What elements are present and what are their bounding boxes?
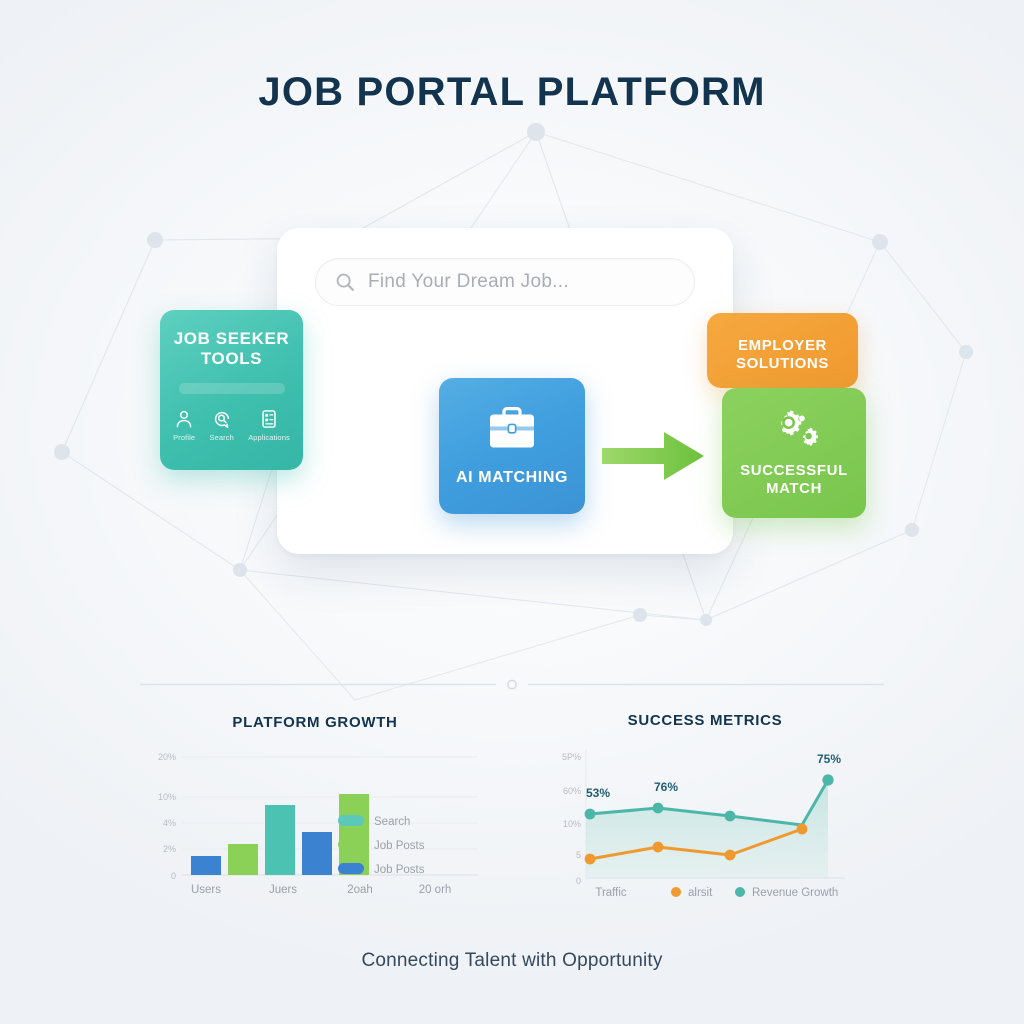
poster-canvas: JOB PORTAL PLATFORM Find Your Dream Job.…	[0, 0, 1024, 1024]
card-title: AI MATCHING	[456, 469, 568, 488]
chart-legend: Search Job Posts Job Posts	[338, 815, 425, 876]
svg-text:Traffic: Traffic	[595, 887, 627, 899]
seeker-tool-profile[interactable]: Profile	[173, 408, 195, 442]
chart-title: PLATFORM GROWTH	[140, 714, 490, 731]
bars	[191, 794, 369, 875]
card-job-seeker-tools[interactable]: JOB SEEKER TOOLS Profile Search	[160, 310, 303, 470]
bar-chart-svg: 20% 10% 4% 2% 0 Users Juers 2oah 20 orh	[140, 731, 490, 899]
footer-tagline: Connecting Talent with Opportunity	[0, 950, 1024, 972]
bar	[302, 832, 332, 875]
seeker-tool-label: Search	[209, 433, 233, 442]
sparkle-icon	[936, 936, 998, 998]
page-title: JOB PORTAL PLATFORM	[0, 70, 1024, 115]
chart-legend: Traffic alrsit Revenue Growth	[595, 887, 838, 899]
card-employer-solutions[interactable]: EMPLOYER SOLUTIONS	[707, 313, 858, 388]
search-icon	[211, 408, 233, 430]
bar	[228, 844, 258, 875]
svg-text:60%: 60%	[563, 786, 581, 796]
chart-success-metrics: SUCCESS METRICS 5P% 60% 10% 5 0	[545, 712, 865, 904]
section-divider	[140, 679, 884, 690]
seeker-tool-label: Profile	[173, 433, 195, 442]
svg-text:2%: 2%	[163, 844, 176, 854]
svg-text:Search: Search	[374, 816, 410, 828]
legend-dot	[735, 887, 745, 897]
bar	[339, 794, 369, 875]
card-title: EMPLOYER SOLUTIONS	[707, 337, 858, 372]
svg-text:Juers: Juers	[269, 884, 297, 896]
seeker-tool-label: Applications	[248, 433, 290, 442]
search-input[interactable]: Find Your Dream Job...	[315, 258, 695, 306]
card-title: JOB SEEKER TOOLS	[160, 329, 303, 369]
svg-text:10%: 10%	[158, 792, 176, 802]
arrow-right-icon	[600, 428, 708, 484]
bar	[265, 805, 295, 875]
svg-text:4%: 4%	[163, 818, 176, 828]
legend-swatch	[338, 839, 364, 850]
card-successful-match[interactable]: SUCCESSFUL MATCH	[722, 388, 866, 518]
seeker-tool-search[interactable]: Search	[209, 408, 233, 442]
svg-text:alrsit: alrsit	[688, 887, 713, 899]
svg-text:76%: 76%	[654, 780, 678, 794]
briefcase-icon	[484, 405, 540, 455]
svg-text:Revenue Growth: Revenue Growth	[752, 887, 838, 899]
legend-swatch	[338, 815, 364, 826]
svg-text:Job Posts: Job Posts	[374, 864, 425, 876]
seeker-tool-applications[interactable]: Applications	[248, 408, 290, 442]
gears-icon	[768, 408, 820, 450]
search-icon	[334, 271, 356, 293]
legend-dot	[671, 887, 681, 897]
svg-text:20 orh: 20 orh	[419, 884, 452, 896]
svg-text:5: 5	[576, 850, 581, 860]
svg-text:10%: 10%	[563, 819, 581, 829]
svg-text:75%: 75%	[817, 752, 841, 766]
svg-text:0: 0	[576, 876, 581, 886]
svg-text:53%: 53%	[586, 786, 610, 800]
seeker-tool-list: Profile Search Applic	[160, 408, 303, 442]
legend-swatch	[338, 863, 364, 874]
search-placeholder: Find Your Dream Job...	[368, 271, 569, 293]
progress-placeholder-bar	[179, 383, 285, 394]
card-title: SUCCESSFUL MATCH	[722, 462, 866, 497]
bar	[191, 856, 221, 875]
chart-title: SUCCESS METRICS	[545, 712, 865, 729]
line-chart-svg: 5P% 60% 10% 5 0 53% 76% 75%	[545, 729, 865, 901]
document-icon	[258, 408, 280, 430]
y-axis-ticks: 20% 10% 4% 2% 0	[158, 752, 176, 881]
card-ai-matching[interactable]: AI MATCHING	[439, 378, 585, 514]
x-axis-labels: Users Juers 2oah 20 orh	[191, 884, 451, 896]
svg-text:5P%: 5P%	[562, 752, 581, 762]
data-labels: 53% 76% 75%	[586, 752, 841, 800]
svg-text:Job Posts: Job Posts	[374, 840, 425, 852]
chart-platform-growth: PLATFORM GROWTH 20% 10% 4% 2% 0	[140, 714, 490, 904]
svg-text:0: 0	[171, 871, 176, 881]
svg-text:2oah: 2oah	[347, 884, 373, 896]
y-axis-ticks: 5P% 60% 10% 5 0	[562, 752, 581, 886]
svg-text:Users: Users	[191, 884, 221, 896]
user-icon	[173, 408, 195, 430]
svg-text:20%: 20%	[158, 752, 176, 762]
area-fill	[586, 780, 828, 878]
